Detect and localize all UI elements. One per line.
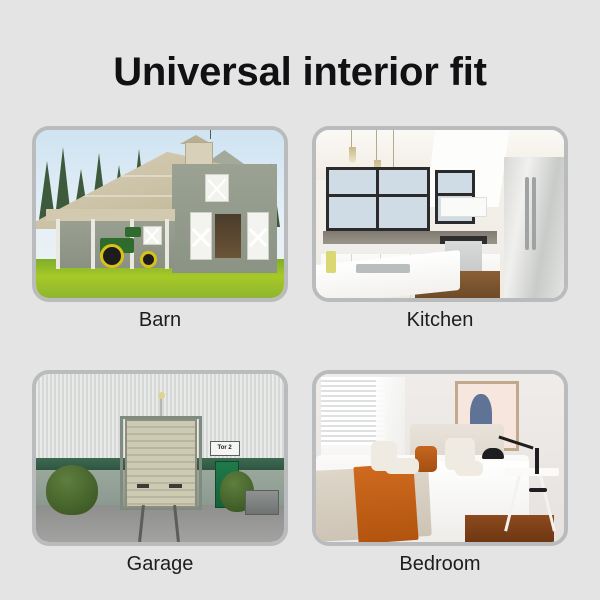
barn-door-left [190, 212, 212, 260]
barn-door-right [247, 212, 269, 260]
pendant-cord-3 [393, 130, 394, 170]
bedroom-orange-throw [353, 463, 418, 542]
lamp-stem [535, 448, 539, 474]
bedroom-pillow-front-2 [455, 461, 483, 476]
pendant-cord-2 [376, 130, 377, 160]
barn-weather-vane [210, 130, 211, 139]
tractor-front-wheel [140, 251, 157, 268]
barn-photo [36, 130, 284, 298]
kitchen-flower-vase [326, 251, 336, 273]
garage-caption: Garage [32, 553, 288, 576]
kitchen-window-main [326, 167, 430, 231]
garage-card[interactable]: Tor 2 [32, 370, 288, 546]
barn-open-doorway [215, 214, 241, 258]
bedroom-caption: Bedroom [312, 553, 568, 576]
tile-garage[interactable]: Tor 2 Garage [32, 370, 288, 576]
tile-grid: Barn [0, 126, 600, 576]
tile-barn[interactable]: Barn [32, 126, 288, 332]
bedroom-pillow-front [385, 458, 419, 474]
lamp-base [529, 488, 547, 492]
barn-leanto-roof [46, 209, 175, 221]
kitchen-sink [356, 264, 411, 272]
barn-side-window [143, 226, 162, 245]
garage-door-sign: Tor 2 [210, 441, 240, 456]
bedroom-side-table [505, 468, 560, 476]
tractor-cab [125, 227, 141, 237]
barn-post-2 [91, 219, 95, 269]
garage-roll-up-door[interactable] [125, 419, 197, 508]
garage-photo: Tor 2 [36, 374, 284, 542]
product-feature-panel: Universal interior fit [0, 0, 600, 600]
barn-cupola [185, 142, 213, 166]
bedroom-photo [316, 374, 564, 542]
garage-bush-left [46, 465, 98, 515]
tile-bedroom[interactable]: Bedroom [312, 370, 568, 576]
tile-kitchen[interactable]: Kitchen [312, 126, 568, 332]
kitchen-range-hood [440, 197, 487, 217]
pendant-light-1 [349, 147, 356, 163]
pendant-cord-1 [351, 130, 352, 147]
barn-caption: Barn [32, 309, 288, 332]
tile-row-top: Barn [0, 126, 600, 332]
kitchen-refrigerator [504, 157, 564, 298]
kitchen-photo [316, 130, 564, 298]
barn-upper-window [205, 174, 229, 202]
barn-post-1 [56, 219, 60, 269]
page-title: Universal interior fit [0, 50, 600, 95]
garage-dumpster [245, 490, 279, 516]
tile-row-bottom: Tor 2 Garage [0, 370, 600, 576]
bedroom-card[interactable] [312, 370, 568, 546]
barn-post-4 [165, 219, 169, 269]
kitchen-caption: Kitchen [312, 309, 568, 332]
barn-card[interactable] [32, 126, 288, 302]
kitchen-card[interactable] [312, 126, 568, 302]
